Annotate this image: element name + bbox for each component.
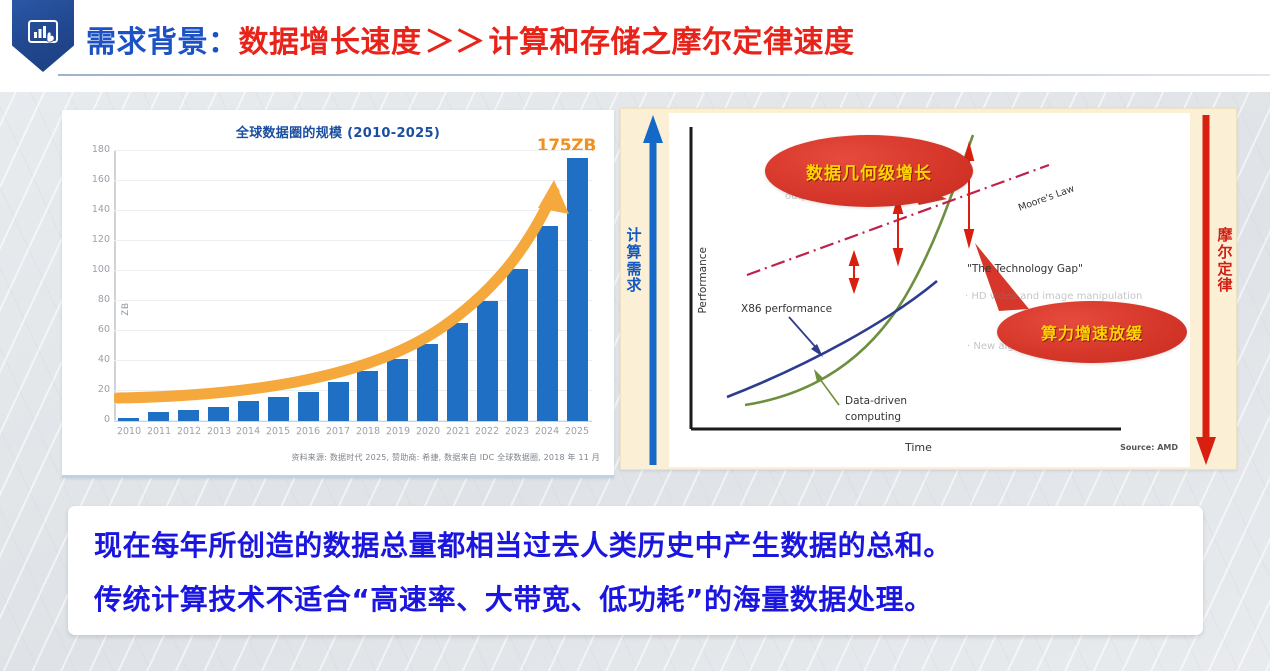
moores-law-label: 摩尔定律 bbox=[1216, 227, 1234, 294]
bottom-callout: 现在每年所创造的数据总量都相当过去人类历史中产生数据的总和。 传统计算技术不适合… bbox=[68, 506, 1203, 635]
bar bbox=[238, 401, 259, 421]
bar bbox=[298, 392, 319, 421]
header-badge bbox=[12, 0, 74, 72]
data-driven-annotation-line1: Data-driven bbox=[845, 395, 907, 407]
faint-hd-video-text: · HD video and image manipulation bbox=[965, 291, 1142, 302]
page-header: 需求背景：数据增长速度＞＞计算和存储之摩尔定律速度 bbox=[0, 0, 1270, 92]
compute-slowdown-bubble-text: 算力增速放缓 bbox=[1041, 320, 1143, 344]
bar bbox=[567, 158, 588, 421]
title-greater-than: ＞＞ bbox=[422, 25, 489, 60]
right-chart-source: Source: AMD bbox=[1120, 443, 1178, 452]
bar bbox=[357, 371, 378, 421]
bar bbox=[417, 344, 438, 421]
right-y-axis-label: Performance bbox=[697, 247, 709, 314]
bar bbox=[268, 397, 289, 421]
left-chart-title: 全球数据圈的规模 (2010-2025) bbox=[62, 122, 614, 141]
header-divider bbox=[58, 74, 1270, 76]
x-tick-label: 2020 bbox=[411, 426, 445, 438]
moores-law-arrow-icon bbox=[1196, 115, 1216, 465]
bar bbox=[507, 269, 528, 421]
bar bbox=[537, 226, 558, 421]
data-growth-bubble: 数据几何级增长 bbox=[765, 135, 973, 207]
bar bbox=[447, 323, 468, 421]
page-title: 需求背景：数据增长速度＞＞计算和存储之摩尔定律速度 bbox=[86, 17, 855, 61]
right-x-axis-label: Time bbox=[905, 441, 932, 454]
y-tick-label: 180 bbox=[80, 144, 110, 155]
compute-slowdown-bubble: 算力增速放缓 bbox=[997, 301, 1187, 363]
bar-series bbox=[114, 151, 592, 421]
left-chart-panel: 全球数据圈的规模 (2010-2025) 175ZB ZB 0204060801… bbox=[62, 110, 614, 478]
y-tick-label: 20 bbox=[80, 384, 110, 395]
data-driven-annotation-line2: computing bbox=[845, 411, 901, 423]
x-tick-label: 2011 bbox=[142, 426, 176, 438]
title-segment-blue: 需求背景： bbox=[86, 25, 239, 60]
title-segment-red-1: 数据增长速度 bbox=[239, 25, 422, 60]
y-tick-label: 60 bbox=[80, 324, 110, 335]
x-tick-label: 2012 bbox=[172, 426, 206, 438]
x-tick-label: 2025 bbox=[560, 426, 594, 438]
y-tick-label: 40 bbox=[80, 354, 110, 365]
y-tick-label: 140 bbox=[80, 204, 110, 215]
x-tick-label: 2018 bbox=[351, 426, 385, 438]
x-tick-label: 2010 bbox=[112, 426, 146, 438]
y-tick-label: 100 bbox=[80, 264, 110, 275]
technology-gap-annotation: "The Technology Gap" bbox=[967, 263, 1083, 275]
compute-demand-arrow-icon bbox=[643, 115, 663, 465]
bar bbox=[148, 412, 169, 421]
x-tick-label: 2019 bbox=[381, 426, 415, 438]
y-tick-label: 80 bbox=[80, 294, 110, 305]
y-tick-label: 120 bbox=[80, 234, 110, 245]
bar bbox=[118, 418, 139, 421]
bar bbox=[178, 410, 199, 421]
bar bbox=[208, 407, 229, 421]
bar bbox=[387, 359, 408, 421]
bar bbox=[477, 301, 498, 421]
left-chart-source: 资料来源: 数据时代 2025, 赞助商: 希捷, 数据来自 IDC 全球数据圈… bbox=[291, 452, 600, 463]
y-tick-label: 0 bbox=[80, 414, 110, 425]
callout-line-2: 传统计算技术不适合“高速率、大带宽、低功耗”的海量数据处理。 bbox=[94, 578, 1203, 618]
callout-line-1: 现在每年所创造的数据总量都相当过去人类历史中产生数据的总和。 bbox=[94, 524, 1203, 564]
right-chart-panel: 计算需求 摩尔定律 bbox=[620, 108, 1237, 470]
title-segment-red-2: 计算和存储之摩尔定律速度 bbox=[489, 25, 855, 60]
chart-touch-icon bbox=[28, 20, 58, 44]
y-tick-label: 160 bbox=[80, 174, 110, 185]
data-growth-bubble-text: 数据几何级增长 bbox=[806, 159, 932, 184]
x86-performance-annotation: X86 performance bbox=[741, 303, 832, 315]
bar bbox=[328, 382, 349, 421]
right-chart-inner: Performance Time Source: AMD outpacing M… bbox=[669, 113, 1190, 467]
left-chart-plot: ZB 020406080100120140160180 201020112012… bbox=[114, 150, 592, 422]
compute-demand-label: 计算需求 bbox=[625, 227, 643, 294]
